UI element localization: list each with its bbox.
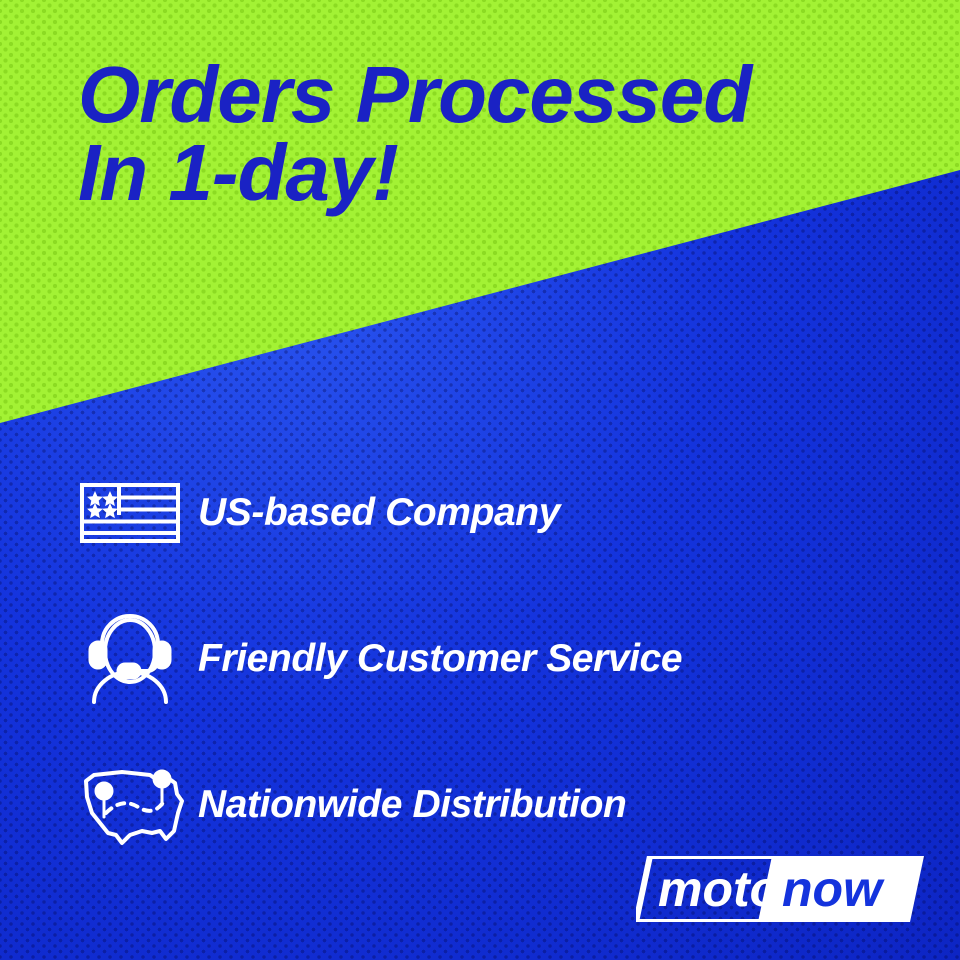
us-flag-icon — [78, 482, 198, 544]
feature-list: US-based Company Friendl — [78, 440, 898, 878]
logo-text-moto: moto — [658, 861, 780, 917]
motonow-logo[interactable]: moto now — [636, 856, 924, 922]
us-map-route-icon — [78, 761, 198, 849]
promo-banner: Orders Processed In 1-day! — [0, 0, 960, 960]
feature-label: Friendly Customer Service — [198, 637, 682, 681]
feature-label: Nationwide Distribution — [198, 783, 626, 827]
headline: Orders Processed In 1-day! — [78, 56, 918, 213]
logo-text-now: now — [782, 861, 885, 917]
feature-row-us-based: US-based Company — [78, 440, 898, 586]
headset-support-icon — [78, 614, 198, 704]
feature-label: US-based Company — [198, 491, 560, 535]
feature-row-customer-service: Friendly Customer Service — [78, 586, 898, 732]
